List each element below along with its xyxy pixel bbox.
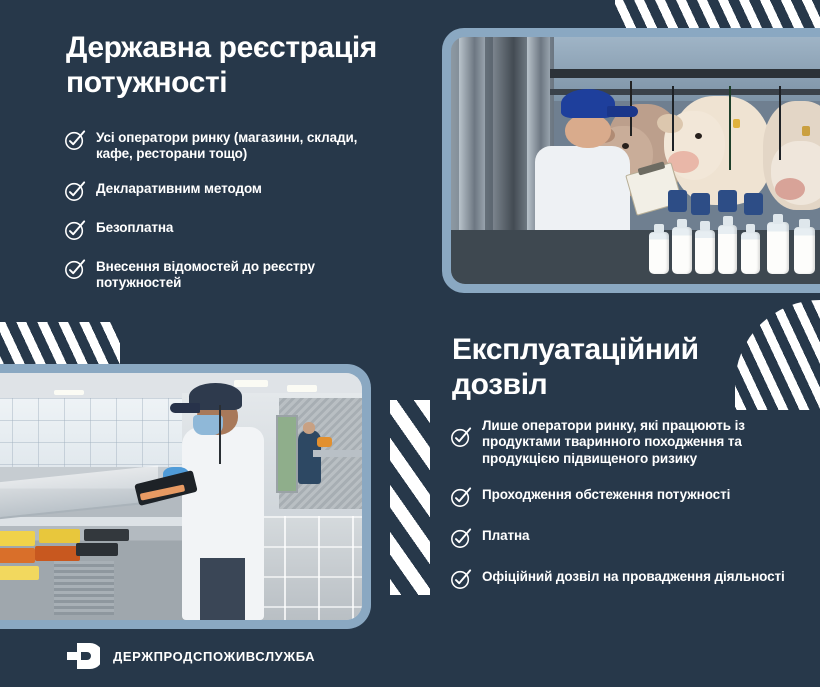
list-item: Усі оператори ринку (магазини, склади, к… (64, 130, 384, 163)
list-item: Декларативним методом (64, 181, 384, 202)
check-circle-icon (64, 258, 86, 280)
check-circle-icon (450, 486, 472, 508)
left-bullet-list: Усі оператори ринку (магазини, склади, к… (64, 130, 384, 310)
list-item-label: Офіційний дозвіл на провадження діяльнос… (482, 569, 785, 585)
footer-logo-text: ДЕРЖПРОДСПОЖИВСЛУЖБА (113, 649, 315, 664)
decorative-stripes-left (0, 322, 120, 370)
list-item: Лише оператори ринку, які працюють із пр… (450, 418, 790, 467)
list-item-label: Лише оператори ринку, які працюють із пр… (482, 418, 790, 467)
check-circle-icon (64, 219, 86, 241)
derzhprodspozhyvsluzhba-logo-icon (66, 640, 100, 672)
check-circle-icon (64, 129, 86, 151)
cafeteria-inspection-photo (0, 364, 371, 629)
list-item-label: Декларативним методом (96, 181, 262, 197)
check-circle-icon (64, 180, 86, 202)
list-item-label: Проходження обстеження потужності (482, 487, 730, 503)
list-item: Платна (450, 528, 790, 549)
list-item: Офіційний дозвіл на провадження діяльнос… (450, 569, 790, 590)
list-item-label: Усі оператори ринку (магазини, склади, к… (96, 130, 384, 163)
right-section-heading: Експлуатаційний дозвіл (452, 332, 772, 402)
list-item: Проходження обстеження потужності (450, 487, 790, 508)
milking-parlour-inspection-photo (442, 28, 820, 293)
footer-logo: ДЕРЖПРОДСПОЖИВСЛУЖБА (66, 640, 315, 672)
list-item-label: Внесення відомостей до реєстру потужност… (96, 259, 384, 292)
infographic-canvas: Державна реєстрація потужності Усі опера… (0, 0, 820, 687)
list-item: Внесення відомостей до реєстру потужност… (64, 259, 384, 292)
decorative-stripes-divider (390, 400, 430, 595)
left-section-heading: Державна реєстрація потужності (66, 30, 436, 100)
check-circle-icon (450, 568, 472, 590)
right-bullet-list: Лише оператори ринку, які працюють із пр… (450, 418, 790, 610)
list-item-label: Безоплатна (96, 220, 173, 236)
list-item: Безоплатна (64, 220, 384, 241)
check-circle-icon (450, 426, 472, 448)
check-circle-icon (450, 527, 472, 549)
list-item-label: Платна (482, 528, 529, 544)
